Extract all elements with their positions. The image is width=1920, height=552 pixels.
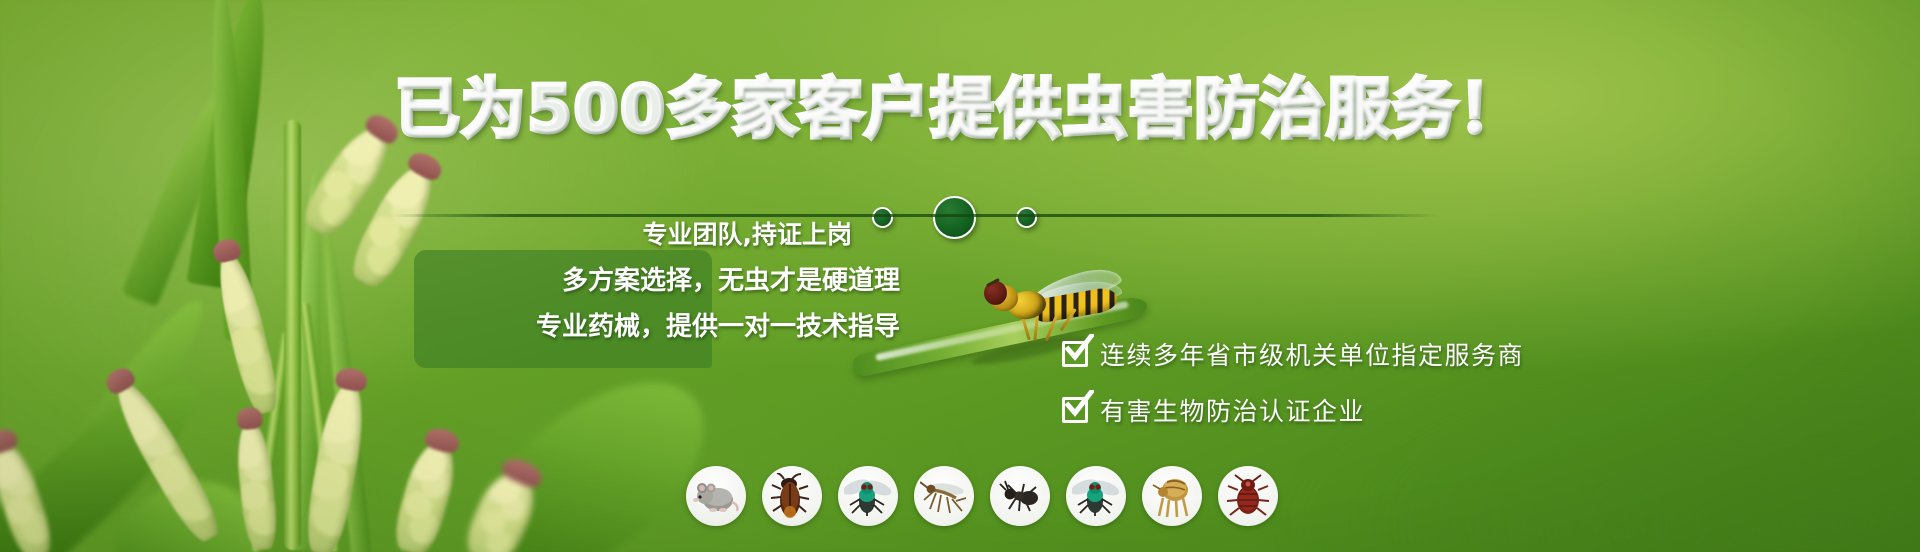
flea-icon[interactable] bbox=[1142, 466, 1202, 526]
checkbox-check-icon bbox=[1062, 397, 1088, 423]
pest-icon-row bbox=[686, 466, 1278, 526]
rodent-mouse-icon[interactable] bbox=[686, 466, 746, 526]
checkbox-check-icon bbox=[1062, 341, 1088, 367]
banner-headline-text: 已为500多家客户提供虫害防治服务！ bbox=[395, 73, 1525, 147]
pest-control-hero-banner: 已为500多家客户提供虫害防治服务！ 专业团队,持证上岗 多方案选择，无虫才是硬 bbox=[0, 0, 1920, 552]
list-item: 有害生物防治认证企业 bbox=[1062, 392, 1524, 428]
cockroach-icon[interactable] bbox=[762, 466, 822, 526]
fly-icon[interactable] bbox=[838, 466, 898, 526]
slogan-line-3: 专业药械，提供一对一技术指导 bbox=[420, 304, 1060, 350]
blowfly-icon[interactable] bbox=[1066, 466, 1126, 526]
bedbug-icon[interactable] bbox=[1218, 466, 1278, 526]
bullet-label: 有害生物防治认证企业 bbox=[1100, 392, 1365, 428]
list-item: 连续多年省市级机关单位指定服务商 bbox=[1062, 336, 1524, 372]
slogan-text-group: 专业团队,持证上岗 多方案选择，无虫才是硬道理 专业药械，提供一对一技术指导 bbox=[420, 212, 1060, 350]
banner-headline: 已为500多家客户提供虫害防治服务！ bbox=[0, 78, 1920, 142]
slogan-line-2: 多方案选择，无虫才是硬道理 bbox=[420, 258, 1060, 304]
slogan-line-1: 专业团队,持证上岗 bbox=[420, 212, 1060, 258]
credential-bullet-list: 连续多年省市级机关单位指定服务商 有害生物防治认证企业 bbox=[1062, 336, 1524, 448]
mosquito-icon[interactable] bbox=[914, 466, 974, 526]
ant-icon[interactable] bbox=[990, 466, 1050, 526]
bullet-label: 连续多年省市级机关单位指定服务商 bbox=[1100, 336, 1524, 372]
